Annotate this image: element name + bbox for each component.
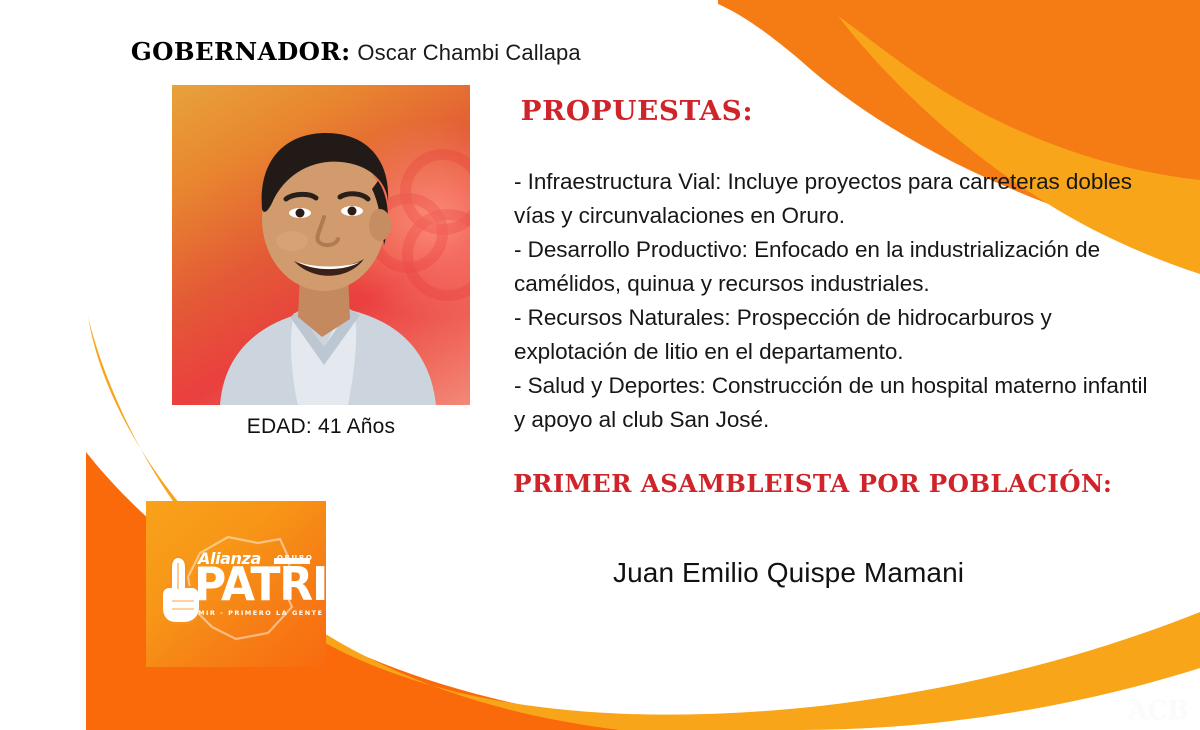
party-logo-tagline: MIR - PRIMERO LA GENTE	[198, 609, 324, 617]
proposals-list: - Infraestructura Vial: Incluye proyecto…	[514, 165, 1154, 437]
proposals-title: PROPUESTAS:	[521, 96, 754, 127]
watermark: ACB	[1128, 696, 1188, 726]
governor-role-label: GOBERNADOR:	[131, 37, 351, 66]
proposal-item: - Salud y Deportes: Construcción de un h…	[514, 369, 1154, 437]
portrait-figure	[172, 85, 470, 405]
proposal-item: - Recursos Naturales: Prospección de hid…	[514, 301, 1154, 369]
proposal-item: - Desarrollo Productivo: Enfocado en la …	[514, 233, 1154, 301]
governor-candidate-name: Oscar Chambi Callapa	[357, 40, 580, 66]
portrait-age-caption: EDAD: 41 Años	[172, 415, 470, 439]
party-logo: Alianza ORURO PATRIA MIR - PRIMERO LA GE…	[146, 501, 326, 667]
campaign-info-card: GOBERNADOR: Oscar Chambi Callapa	[0, 0, 1200, 730]
proposal-item: - Infraestructura Vial: Incluye proyecto…	[514, 165, 1154, 233]
governor-header: GOBERNADOR: Oscar Chambi Callapa	[133, 37, 581, 66]
candidate-portrait	[172, 85, 470, 405]
assembly-title: PRIMER ASAMBLEISTA POR POBLACIÓN:	[513, 469, 1112, 498]
assembly-candidate-name: Juan Emilio Quispe Mamani	[613, 557, 964, 589]
party-logo-patria: PATRIA	[194, 562, 360, 609]
